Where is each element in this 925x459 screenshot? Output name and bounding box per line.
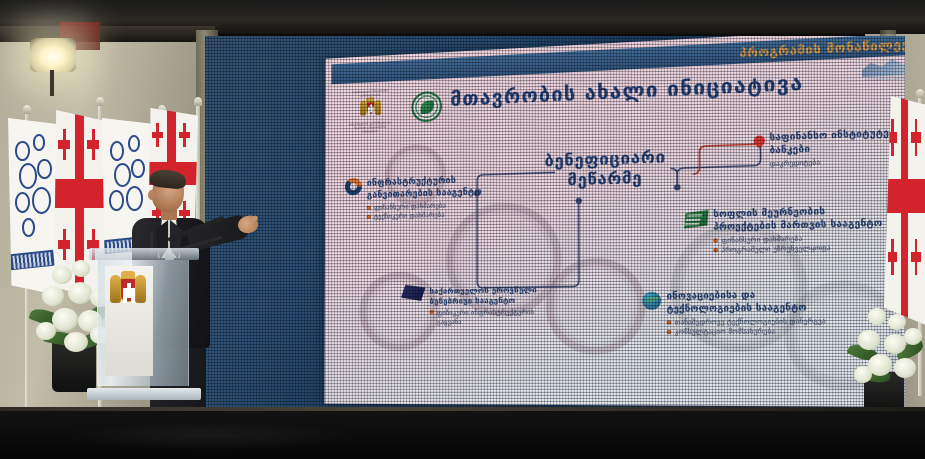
podium-glass-top: [89, 248, 199, 260]
flower-arrangement-right: [848, 300, 925, 396]
node-title: საქართველოს ეროვნული ბუნებრივი სააგენტო: [430, 284, 577, 307]
center-node-beneficiary: ბენეფიციარი მეწარმე: [498, 146, 715, 194]
ceiling-spotlight: [30, 38, 76, 72]
podium: [95, 252, 193, 400]
node-agriculture-projects-management-agency: სოფლის მეურნეობის პროექტების მართვის საა…: [713, 203, 905, 256]
floor-reflection: [60, 421, 360, 451]
bullet-dot-icon: [367, 205, 371, 209]
bullet-dot-icon: [367, 215, 371, 219]
podium-base: [87, 388, 201, 400]
node-energy-natural-resources-agency: საქართველოს ეროვნული ბუნებრივი სააგენტო …: [430, 284, 577, 328]
flag-georgia-3: [884, 96, 925, 326]
node-infrastructure-agency: ინფრასტრუქტურის განვითარების სააგენტო ფი…: [367, 173, 521, 222]
coat-of-arms-icon: [111, 270, 145, 312]
spotlight-stem: [50, 70, 54, 96]
bullet-dot-icon: [667, 320, 671, 324]
pin-icon: [754, 135, 766, 148]
node-financial-institutions-banks: საფინანსო ინსტიტუტები ბანკები დაკრედიტებ…: [770, 126, 905, 170]
led-video-wall: პროგრამის მონაწილეები საქართველოს მთავრო…: [205, 36, 905, 414]
node-title: სოფლის მეურნეობის პროექტების მართვის საა…: [713, 203, 905, 234]
bullet-dot-icon: [713, 248, 718, 252]
speaker-ear: [148, 190, 155, 200]
bullet-dot-icon: [713, 238, 718, 242]
presentation-slide: პროგრამის მონაწილეები საქართველოს მთავრო…: [324, 36, 905, 407]
bullet-dot-icon: [667, 330, 671, 334]
globe-icon: [642, 292, 661, 310]
node-bullet: ფიზიკური ინფრასტრუქტურის გაყვანა: [430, 307, 577, 328]
bullet-dot-icon: [430, 310, 434, 314]
node-title: ინფრასტრუქტურის განვითარების სააგენტო: [367, 173, 521, 201]
photo-scene: პროგრამის მონაწილეები საქართველოს მთავრო…: [0, 0, 925, 459]
